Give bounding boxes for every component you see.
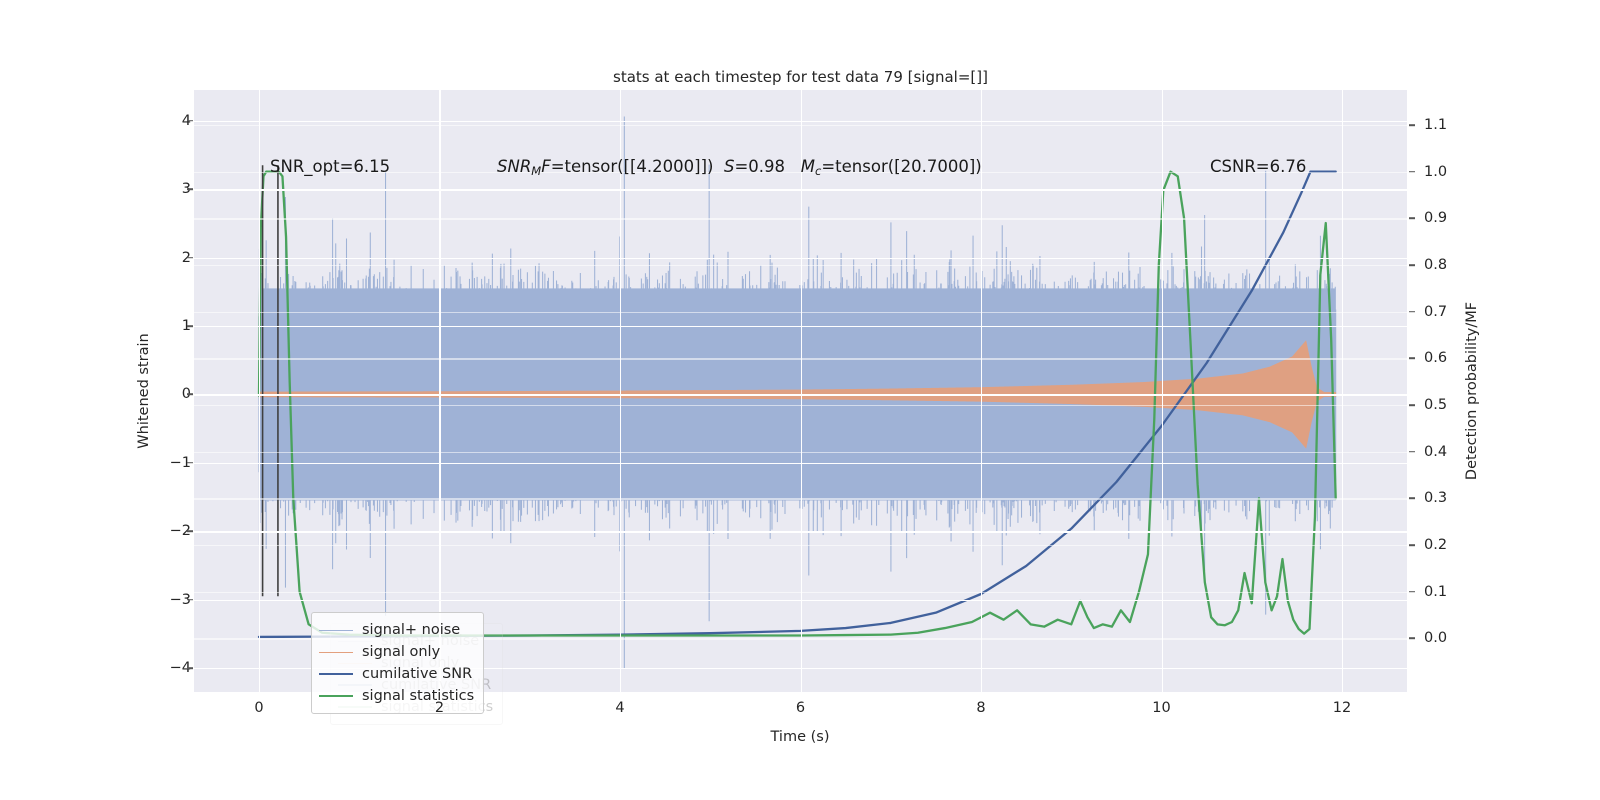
legend-label: signal statistics: [362, 688, 474, 704]
gridline-vertical: [981, 90, 982, 692]
y-tick-label-right: 0.0: [1424, 630, 1484, 646]
x-tick-label: 0: [254, 700, 263, 716]
x-tick-label: 6: [796, 700, 805, 716]
y-tick-label-left: −3: [131, 592, 191, 608]
y-tick-mark-left: [187, 394, 193, 396]
annotation-snrmf-symbol: SNR: [497, 157, 531, 176]
gridline-vertical: [259, 90, 260, 692]
legend-item-signal-noise[interactable]: signal+ noise: [319, 619, 474, 641]
y-tick-mark-left: [187, 530, 193, 532]
y-tick-mark-right: [1409, 451, 1415, 453]
legend-swatch-line: [319, 652, 353, 653]
legend-item-cumilative-snr[interactable]: cumilative SNR: [319, 663, 474, 685]
y-tick-mark-right: [1409, 264, 1415, 266]
legend-item-signal-statistics[interactable]: signal statistics: [319, 685, 474, 707]
y-tick-mark-left: [187, 120, 193, 122]
y-tick-mark-right: [1409, 358, 1415, 360]
y-tick-label-left: 1: [131, 318, 191, 334]
y-tick-mark-right: [1409, 498, 1415, 500]
annotation-mc-value: =tensor([20.7000]): [821, 157, 981, 176]
x-tick-label: 12: [1333, 700, 1351, 716]
legend-swatch-line: [319, 673, 353, 675]
annotation-math-stats: SNRMF=tensor([[4.2000]]) S=0.98 Mc=tenso…: [497, 157, 982, 178]
x-tick-label: 4: [615, 700, 624, 716]
y-tick-label-right: 0.8: [1424, 257, 1484, 273]
gridline-vertical: [620, 90, 621, 692]
y-tick-mark-left: [187, 325, 193, 327]
y-tick-label-right: 0.9: [1424, 210, 1484, 226]
y-tick-label-left: −2: [131, 523, 191, 539]
figure-canvas: stats at each timestep for test data 79 …: [0, 0, 1600, 800]
y-tick-mark-right: [1409, 591, 1415, 593]
y-tick-label-right: 0.2: [1424, 537, 1484, 553]
annotation-snrmf-value: =tensor([[4.2000]]): [551, 157, 714, 176]
plot-clip: [194, 90, 1407, 692]
y-tick-mark-right: [1409, 404, 1415, 406]
x-tick-label: 2: [435, 700, 444, 716]
annotation-snr-opt: SNR_opt=6.15: [270, 157, 390, 176]
gridline-vertical: [1162, 90, 1163, 692]
y-tick-label-right: 0.3: [1424, 490, 1484, 506]
y-tick-label-right: 0.6: [1424, 350, 1484, 366]
legend-swatch-line: [319, 695, 353, 697]
y-tick-label-left: 2: [131, 250, 191, 266]
y-tick-label-left: −4: [131, 660, 191, 676]
y-tick-mark-left: [187, 257, 193, 259]
y-tick-label-right: 0.4: [1424, 444, 1484, 460]
annotation-snrmf-f: F: [541, 157, 551, 176]
legend[interactable]: signal+ noisesignal onlycumilative SNRsi…: [311, 612, 484, 714]
y-tick-label-right: 0.7: [1424, 304, 1484, 320]
gridline-vertical: [439, 90, 440, 692]
annotation-s-symbol: S: [724, 157, 734, 176]
plot-area: [194, 90, 1407, 692]
y-tick-label-right: 0.1: [1424, 584, 1484, 600]
y-tick-mark-right: [1409, 544, 1415, 546]
y-tick-mark-left: [187, 667, 193, 669]
y-tick-mark-right: [1409, 218, 1415, 220]
legend-item-signal-only[interactable]: signal only: [319, 641, 474, 663]
y-tick-mark-left: [187, 599, 193, 601]
gridline-vertical: [801, 90, 802, 692]
legend-label: signal+ noise: [362, 622, 460, 638]
y-tick-mark-left: [187, 188, 193, 190]
y-tick-label-right: 1.0: [1424, 164, 1484, 180]
annotation-csnr: CSNR=6.76: [1210, 157, 1306, 176]
chart-title: stats at each timestep for test data 79 …: [194, 68, 1407, 86]
x-axis-label: Time (s): [771, 729, 830, 745]
annotation-snrmf-subscript: M: [531, 164, 541, 178]
y-tick-label-left: 0: [131, 386, 191, 402]
y-tick-label-left: 4: [131, 113, 191, 129]
y-tick-label-right: 0.5: [1424, 397, 1484, 413]
x-tick-label: 10: [1152, 700, 1170, 716]
y-tick-mark-right: [1409, 311, 1415, 313]
legend-label: cumilative SNR: [362, 666, 472, 682]
y-tick-label-right: 1.1: [1424, 117, 1484, 133]
y-tick-mark-left: [187, 462, 193, 464]
y-tick-mark-right: [1409, 124, 1415, 126]
annotation-s-value: =0.98: [734, 157, 785, 176]
gridline-vertical: [1342, 90, 1343, 692]
x-tick-label: 8: [976, 700, 985, 716]
legend-label: signal only: [362, 644, 440, 660]
annotation-mc-symbol: M: [801, 157, 815, 176]
y-tick-label-left: −1: [131, 455, 191, 471]
y-tick-mark-right: [1409, 171, 1415, 173]
y-tick-label-left: 3: [131, 181, 191, 197]
legend-swatch-line: [319, 630, 353, 631]
y-tick-mark-right: [1409, 638, 1415, 640]
